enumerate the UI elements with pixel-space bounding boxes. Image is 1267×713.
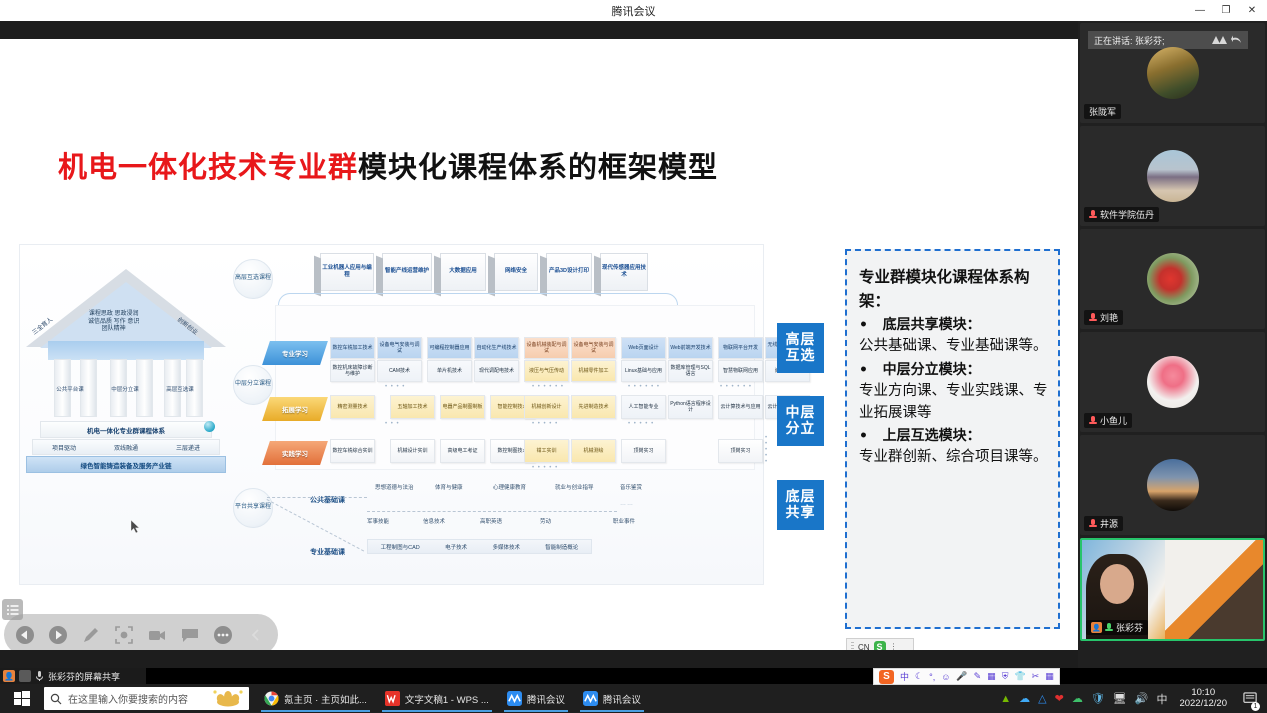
- tray-heart-icon[interactable]: ❤: [1055, 692, 1064, 705]
- top-box-4: 网络安全: [494, 253, 538, 291]
- layer-box-bottom: 底层共享: [777, 480, 824, 530]
- participant-tile[interactable]: 井源: [1080, 435, 1265, 535]
- avatar: [1147, 356, 1199, 408]
- share-user-icon: 👤: [3, 670, 15, 682]
- meeting-app: 机电一体化技术专业群模块化课程体系的框架模型 三全育人 创新创业: [0, 21, 1267, 668]
- more-icon[interactable]: [212, 624, 234, 646]
- grid-cell: 可编程控制器应用: [427, 337, 472, 359]
- ime-handwrite-icon[interactable]: ✎: [974, 671, 982, 682]
- temple-base-methods: 项目驱动双线融通三层递进: [32, 439, 220, 455]
- camera-icon[interactable]: [146, 624, 168, 646]
- summary-bullet: • 中层分立模块：: [859, 360, 1048, 381]
- temple-base-curriculum: 机电一体化专业群课程体系: [40, 421, 212, 438]
- grid-cell: Python语言程序设计: [668, 395, 713, 419]
- clock-time: 10:10: [1179, 688, 1227, 699]
- start-button[interactable]: [0, 684, 44, 713]
- search-lotus-icon: [211, 688, 245, 708]
- grid-cell: 设备电气安装与调试: [571, 337, 616, 359]
- ime-toolbox-icon[interactable]: ▦: [1045, 671, 1054, 682]
- window-titlebar: 腾讯会议 — ❐ ✕: [0, 0, 1267, 21]
- dots-marker: • • • • •: [532, 421, 558, 427]
- minimize-icon[interactable]: —: [1187, 0, 1213, 21]
- grid-cell: 机械零件加工: [571, 360, 616, 382]
- major-course-bar: 工程制图与CAD 电子技术 多媒体技术 智能制造概论: [367, 539, 592, 554]
- public-course-top: 心理健康教育: [493, 485, 526, 492]
- mic-muted-icon: [1089, 210, 1097, 220]
- share-label: 张彩芬的屏幕共享: [48, 670, 120, 683]
- public-course-top: 就业与创业指导: [555, 485, 594, 492]
- screen-share-strip[interactable]: 👤 张彩芬的屏幕共享: [0, 668, 146, 684]
- search-input[interactable]: 在这里输入你要搜索的内容: [44, 687, 249, 710]
- participant-name: 张彩芬: [1116, 621, 1143, 634]
- windows-taskbar: 在这里输入你要搜索的内容 氪主页 · 主页如此... 文字文稿1 - WPS .…: [0, 684, 1267, 713]
- round-tag-platform: 平台共享课程: [233, 488, 273, 528]
- ime-toolbar[interactable]: S 中 ☾ °, ☺ 🎤 ✎ ▦ ⛨ 👕 ✂ ▦: [873, 668, 1060, 685]
- top-box-2: 智能产线运营维护: [382, 253, 432, 291]
- row-tag-practice: 实践学习: [262, 441, 328, 465]
- round-tag-middle: 中层分立课程: [233, 365, 273, 405]
- public-course-bottom: 职业事件: [613, 519, 635, 526]
- screen-share-stage: 机电一体化技术专业群模块化课程体系的框架模型 三全育人 创新创业: [0, 21, 1078, 668]
- grid-cell: Web前端开发技术: [668, 337, 713, 359]
- connector-orb-icon: [204, 421, 215, 432]
- grid-cell: 钳工实训: [524, 439, 569, 463]
- dots-marker: • • • • •: [628, 421, 654, 427]
- participant-tile[interactable]: 小鱼儿: [1080, 332, 1265, 432]
- grid-cell: 设备机械装配与调试: [524, 337, 569, 359]
- participant-name: 软件学院伍丹: [1100, 208, 1154, 221]
- grid-cell: 五轴加工技术: [390, 395, 435, 419]
- grid-cell: 设备电气安装与调试: [377, 337, 422, 359]
- taskbar-label: 腾讯会议: [603, 692, 641, 706]
- row-tag-professional: 专业学习: [262, 341, 328, 365]
- tray-ime-lang[interactable]: 中: [1156, 691, 1167, 707]
- avatar: [1147, 47, 1199, 99]
- taskbar-apps: 氪主页 · 主页如此... 文字文稿1 - WPS ... 腾讯会议 腾讯会议: [255, 684, 650, 713]
- share-mic-icon[interactable]: [35, 670, 44, 682]
- ime-language-label[interactable]: CN: [858, 643, 870, 651]
- grid-cell: 电器产品制图制板: [440, 395, 485, 419]
- public-course-top: 思想道德与法治: [375, 485, 414, 492]
- dots-marker: • • • • •: [765, 435, 768, 465]
- window-title: 腾讯会议: [612, 3, 656, 19]
- taskbar-item-wps[interactable]: 文字文稿1 - WPS ...: [376, 684, 498, 713]
- tencent-meeting-icon: [583, 691, 598, 706]
- ime-lang-icon[interactable]: 中: [900, 670, 909, 683]
- summary-heading: 专业群模块化课程体系构架：: [859, 265, 1048, 313]
- name-tag: 小鱼儿: [1084, 413, 1132, 428]
- grid-cell: Web页面设计: [621, 337, 666, 359]
- grid-cell: 现代调配电技术: [474, 360, 519, 382]
- maximize-icon[interactable]: ❐: [1213, 0, 1239, 21]
- chrome-icon: [264, 691, 279, 706]
- pillars-group: 公共平台课 中层分立课 高层互选课: [48, 359, 204, 417]
- layout-icons[interactable]: [1212, 35, 1242, 45]
- avatar: [1147, 253, 1199, 305]
- layer-box-upper: 高层互选: [777, 323, 824, 373]
- pillar-label-3: 高层互选课: [163, 387, 197, 394]
- taskbar-label: 文字文稿1 - WPS ...: [405, 692, 489, 706]
- ime-emoji-icon[interactable]: ☺: [941, 672, 950, 682]
- dots-marker: • • • • •: [532, 465, 558, 471]
- taskbar-label: 氪主页 · 主页如此...: [284, 692, 367, 706]
- tray-network-icon[interactable]: 🖥: [1113, 692, 1127, 705]
- dots-marker: • • •: [385, 421, 400, 427]
- grid-cell: 顶岗实习: [621, 439, 666, 463]
- share-screen-icon[interactable]: [19, 670, 31, 682]
- grid-cell: 数据库管理与SQL语言: [668, 360, 713, 382]
- notification-center-button[interactable]: 1: [1239, 684, 1261, 713]
- sogou-logo-icon[interactable]: S: [874, 641, 886, 650]
- summary-panel: 专业群模块化课程体系构架： • 底层共享模块： 公共基础课、专业基础课等。 • …: [845, 249, 1060, 629]
- grid-cell: 数控机床故障诊断与维护: [330, 360, 375, 382]
- pillar-label-2: 中层分立课: [108, 387, 142, 394]
- grid-cell: 云计算技术与应用: [718, 395, 763, 419]
- participant-tile[interactable]: 软件学院伍丹: [1080, 126, 1265, 226]
- dots-marker: • • • •: [385, 384, 405, 390]
- mic-muted-icon: [1089, 416, 1097, 426]
- layer-box-middle: 中层分立: [777, 396, 824, 446]
- wps-icon: [385, 691, 400, 706]
- participant-tile[interactable]: 正在讲话: 张彩芬; 张陇军: [1080, 23, 1265, 123]
- tray-shield-icon[interactable]: 🛡: [1091, 692, 1105, 705]
- summary-bullet: • 上层互选模块：: [859, 426, 1048, 447]
- grid-cell: 精密测量技术: [330, 395, 375, 419]
- label-major-courses: 专业基础课: [310, 547, 345, 557]
- tray-tencent-meeting-icon[interactable]: △: [1038, 692, 1046, 705]
- ime-moon-icon[interactable]: ☾: [915, 671, 923, 682]
- collapse-toolbar-icon[interactable]: [245, 624, 267, 646]
- next-slide-icon[interactable]: [47, 624, 69, 646]
- system-tray: ▲ ☁ △ ❤ ☁ 🛡 🖥 🔊 中 10:10 2022/12/20 1: [1000, 684, 1267, 713]
- public-course-top: 体育与健康: [435, 485, 463, 492]
- summary-text: 专业群创新、综合项目课等。: [859, 447, 1048, 469]
- mic-muted-icon: [1089, 313, 1097, 323]
- grid-cell: CAM技术: [377, 360, 422, 382]
- dots-marker: • • • • • •: [532, 384, 564, 390]
- pillar-label-1: 公共平台课: [53, 387, 87, 394]
- row-tag-extension: 拓展学习: [262, 397, 328, 421]
- clock-date: 2022/12/20: [1179, 699, 1227, 710]
- chat-icon[interactable]: [179, 624, 201, 646]
- grid-cell: 数控车铣综合实训: [330, 439, 375, 463]
- public-course-bottom: 军事技能: [367, 519, 389, 526]
- host-badge-icon: 👤: [1091, 622, 1102, 633]
- grid-cell: 智慧物联网应用: [718, 360, 763, 382]
- participant-name: 张陇军: [1089, 105, 1116, 118]
- participant-tile[interactable]: 刘艳: [1080, 229, 1265, 329]
- grid-cell: 液压与气压传动: [524, 360, 569, 382]
- public-course-bottom: 信息技术: [423, 519, 445, 526]
- ime-floating-bar[interactable]: CN S ⋮: [846, 638, 914, 650]
- tray-nvidia-icon[interactable]: ▲: [1000, 693, 1011, 705]
- avatar: [1147, 459, 1199, 511]
- name-tag: 井源: [1084, 516, 1123, 531]
- grid-cell: 单片机技术: [427, 360, 472, 382]
- grid-cell: 物联网平台开发: [718, 337, 763, 359]
- grid-cell: 机械创新设计: [524, 395, 569, 419]
- search-placeholder: 在这里输入你要搜索的内容: [68, 691, 188, 706]
- public-course-top: 音乐鉴赏: [620, 485, 642, 492]
- grid-cell: 顶岗实习: [718, 439, 763, 463]
- name-tag: 刘艳: [1084, 310, 1123, 325]
- grid-cell: Linux基础与应用: [621, 360, 666, 382]
- ime-menu-icon[interactable]: ⋮: [890, 644, 898, 650]
- taskbar-item-tencent-meeting-2[interactable]: 腾讯会议: [574, 684, 650, 713]
- taskbar-item-chrome[interactable]: 氪主页 · 主页如此...: [255, 684, 376, 713]
- tray-volume-icon[interactable]: 🔊: [1135, 692, 1149, 705]
- participant-name: 井源: [1100, 517, 1118, 530]
- grid-cell: 先进制造技术: [571, 395, 616, 419]
- dots-marker: • • • • • •: [720, 384, 752, 390]
- avatar: [1147, 150, 1199, 202]
- taskbar-clock[interactable]: 10:10 2022/12/20: [1175, 688, 1231, 710]
- top-box-1: 工业机器人应用与编程: [320, 253, 374, 291]
- ime-voice-icon[interactable]: 🎤: [956, 671, 967, 682]
- top-box-3: 大数据应用: [440, 253, 486, 291]
- tray-cloud2-icon[interactable]: ☁: [1072, 692, 1083, 705]
- taskbar-item-tencent-meeting-1[interactable]: 腾讯会议: [498, 684, 574, 713]
- slide-title: 机电一体化技术专业群模块化课程体系的框架模型: [58, 144, 718, 186]
- search-icon: [50, 693, 62, 705]
- public-course-bottom: 劳动: [540, 519, 551, 526]
- speaking-label: 正在讲话: 张彩芬;: [1094, 34, 1165, 47]
- sogou-logo-icon[interactable]: S: [879, 670, 894, 684]
- prev-slide-icon[interactable]: [14, 624, 36, 646]
- name-tag: 张陇军: [1084, 104, 1121, 119]
- taskbar-label: 腾讯会议: [527, 692, 565, 706]
- grid-cell: 自动化生产线技术: [474, 337, 519, 359]
- notification-count: 1: [1251, 702, 1260, 711]
- ime-skin-icon[interactable]: 👕: [1014, 671, 1025, 682]
- public-course-ellipsis: ……: [620, 501, 634, 507]
- temple-base-industry: 绿色智能铸造装备及服务产业链: [26, 456, 226, 473]
- tencent-meeting-icon: [507, 691, 522, 706]
- top-box-5: 产品3D设计打印: [546, 253, 592, 291]
- mic-muted-icon: [1089, 519, 1097, 529]
- ime-screenshot-icon[interactable]: ✂: [1032, 671, 1040, 682]
- roof-label-center: 课程思政 思政浸润 诚信品质 写作 意识 团队精神: [88, 311, 139, 334]
- close-icon[interactable]: ✕: [1239, 0, 1265, 21]
- participant-tile-active-speaker[interactable]: 👤 张彩芬: [1080, 538, 1265, 641]
- summary-bullet: • 底层共享模块：: [859, 315, 1048, 336]
- ime-keyboard-icon[interactable]: ▦: [987, 671, 996, 682]
- name-tag: 👤 张彩芬: [1086, 620, 1148, 635]
- ime-translate-icon[interactable]: ⛨: [1002, 671, 1009, 682]
- grid-cell: 机械设计实训: [390, 439, 435, 463]
- participant-name: 小鱼儿: [1100, 414, 1127, 427]
- top-course-boxes: 工业机器人应用与编程 智能产线运营维护 大数据应用 网络安全 产品3D设计打印 …: [320, 253, 665, 297]
- grid-cell: 数控车铣加工技术: [330, 337, 375, 359]
- participant-name: 刘艳: [1100, 311, 1118, 324]
- window-controls: — ❐ ✕: [1187, 0, 1265, 21]
- annotate-pen-icon[interactable]: [80, 624, 102, 646]
- spotlight-icon[interactable]: [113, 624, 135, 646]
- grid-cell: 机械测绘: [571, 439, 616, 463]
- tray-cloud-icon[interactable]: ☁: [1019, 692, 1030, 705]
- round-tag-upper: 高层互选课程: [233, 259, 273, 299]
- grid-cell: 高级电工考证: [440, 439, 485, 463]
- slide-title-black: 模块化课程体系的框架模型: [358, 150, 718, 184]
- summary-text: 公共基础课、专业基础课等。: [859, 336, 1048, 358]
- presentation-slide: 机电一体化技术专业群模块化课程体系的框架模型 三全育人 创新创业: [0, 39, 1078, 650]
- ime-grip-icon[interactable]: [851, 642, 854, 651]
- presentation-toolbar: [4, 614, 278, 650]
- summary-text: 专业方向课、专业实践课、专业拓展课等: [859, 381, 1048, 425]
- ime-punct-icon[interactable]: °,: [929, 672, 935, 682]
- temple-graphic: 三全育人 创新创业 课程思政 思政浸润 诚信品质 写作 意识 团队精神: [26, 261, 226, 491]
- foundation-courses: 公共基础课 专业基础课 思想道德与法治 体育与健康 心理健康教育 就业与创业指导…: [275, 477, 745, 572]
- public-course-bottom: 高职英语: [480, 519, 502, 526]
- participants-panel: 正在讲话: 张彩芬; 张陇军 软件学院伍丹 刘艳: [1078, 21, 1267, 668]
- mic-active-icon: [1105, 623, 1113, 633]
- top-box-6: 现代传感器应用技术: [600, 253, 648, 291]
- grid-cell: 人工智能专业: [621, 395, 666, 419]
- slide-title-red: 机电一体化技术专业群: [58, 150, 358, 184]
- dots-marker: • • • • • •: [628, 384, 660, 390]
- name-tag: 软件学院伍丹: [1084, 207, 1159, 222]
- mouse-cursor-icon: [131, 520, 140, 534]
